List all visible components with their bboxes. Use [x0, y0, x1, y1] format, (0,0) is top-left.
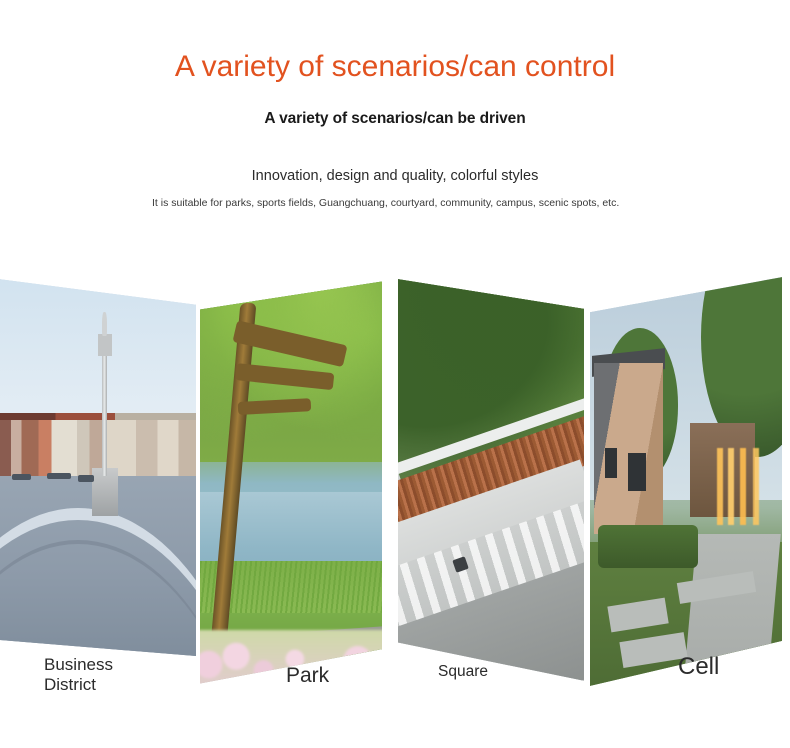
scenario-gallery	[0, 260, 790, 700]
promo-page: A variety of scenarios/can control A var…	[0, 0, 790, 748]
parked-car	[47, 473, 71, 479]
description-text: It is suitable for parks, sports fields,…	[152, 196, 636, 211]
caption-business-district: Business District	[44, 655, 113, 695]
monument-column	[102, 352, 107, 476]
business-district-image	[0, 260, 196, 660]
cell-community-image	[590, 260, 782, 688]
house-facade	[594, 363, 663, 534]
tagline-text: Innovation, design and quality, colorful…	[0, 168, 790, 184]
house-window	[628, 453, 645, 492]
scenario-panel-business-district[interactable]	[0, 260, 196, 660]
page-subtitle: A variety of scenarios/can be driven	[0, 110, 790, 128]
house-window	[605, 448, 617, 478]
scenario-panel-cell[interactable]	[590, 260, 782, 688]
header-block: A variety of scenarios/can control A var…	[0, 0, 790, 184]
square-image	[398, 260, 584, 685]
page-title: A variety of scenarios/can control	[0, 52, 790, 82]
tree-canopy	[200, 260, 382, 462]
caption-park: Park	[286, 664, 329, 689]
monument-statue	[102, 312, 106, 336]
monument-capital	[98, 334, 112, 356]
parked-car	[12, 474, 32, 480]
warm-lighting-glow	[717, 448, 767, 525]
parked-car	[78, 475, 94, 481]
scenario-panel-square[interactable]	[398, 260, 584, 685]
park-image	[200, 260, 382, 690]
caption-cell: Cell	[678, 653, 719, 681]
scenario-panel-park[interactable]	[200, 260, 382, 690]
hedge-row	[598, 525, 698, 568]
caption-square: Square	[438, 663, 488, 681]
